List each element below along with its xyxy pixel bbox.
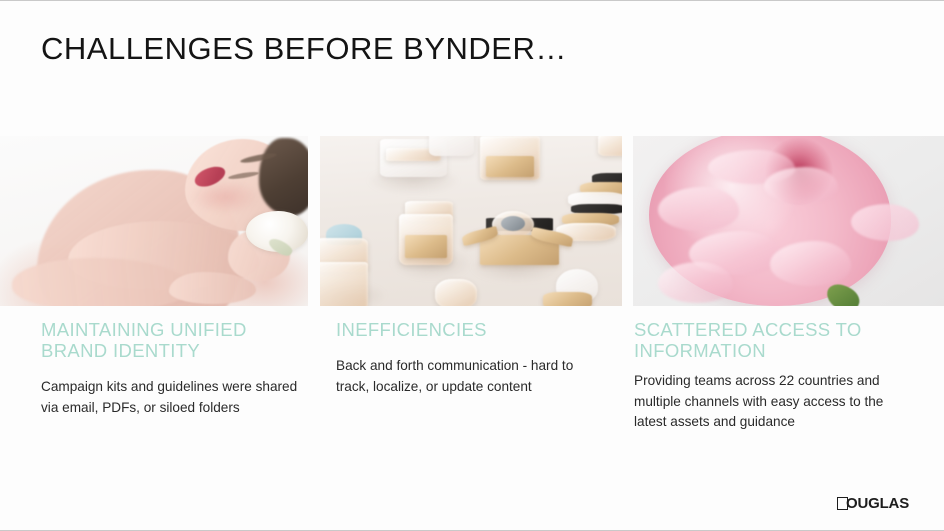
jar-back-right [598, 136, 622, 156]
peony-petal [658, 187, 739, 231]
image-panel-inefficiencies [320, 136, 622, 306]
image-panel-brand-identity [0, 136, 308, 306]
beauty-portrait-image [0, 136, 308, 306]
jar-back-center [429, 136, 474, 156]
peony-petal [770, 241, 851, 285]
image-band [0, 136, 944, 306]
column-body-text: Campaign kits and guidelines were shared… [41, 377, 313, 418]
page-title: CHALLENGES BEFORE BYNDER… [41, 31, 567, 67]
gold-object-front-right [543, 292, 591, 306]
perfume-bottle-front-left-body [320, 262, 368, 306]
column-heading: INEFFICIENCIES [336, 319, 608, 340]
column-inefficiencies: INEFFICIENCIES Back and forth communicat… [336, 319, 608, 397]
column-scattered-access: SCATTERED ACCESS TO INFORMATION Providin… [634, 319, 914, 433]
portrait-hair-shape [259, 138, 308, 216]
logo-text: OUGLAS [846, 495, 909, 512]
column-heading: MAINTAINING UNIFIED BRAND IDENTITY [41, 319, 313, 361]
column-brand-identity: MAINTAINING UNIFIED BRAND IDENTITY Campa… [41, 319, 313, 418]
glass-object-front-center [435, 279, 477, 306]
cosmetics-flatlay-image [320, 136, 622, 306]
column-body-text: Providing teams across 22 countries and … [634, 371, 914, 433]
column-heading: SCATTERED ACCESS TO INFORMATION [634, 319, 914, 361]
douglas-logo: OUGLAS [837, 495, 909, 512]
perfume-bottle-back-center-gold [486, 156, 534, 176]
column-body-text: Back and forth communication - hard to t… [336, 356, 608, 397]
peony-petal [658, 262, 733, 303]
perfume-bottle-center-label [405, 235, 447, 259]
peony-petal [764, 167, 839, 204]
slide-canvas: CHALLENGES BEFORE BYNDER… [0, 0, 944, 531]
image-panel-scattered-access [633, 136, 944, 306]
peony-flower-image [633, 136, 944, 306]
logo-square-d-icon [837, 497, 848, 510]
